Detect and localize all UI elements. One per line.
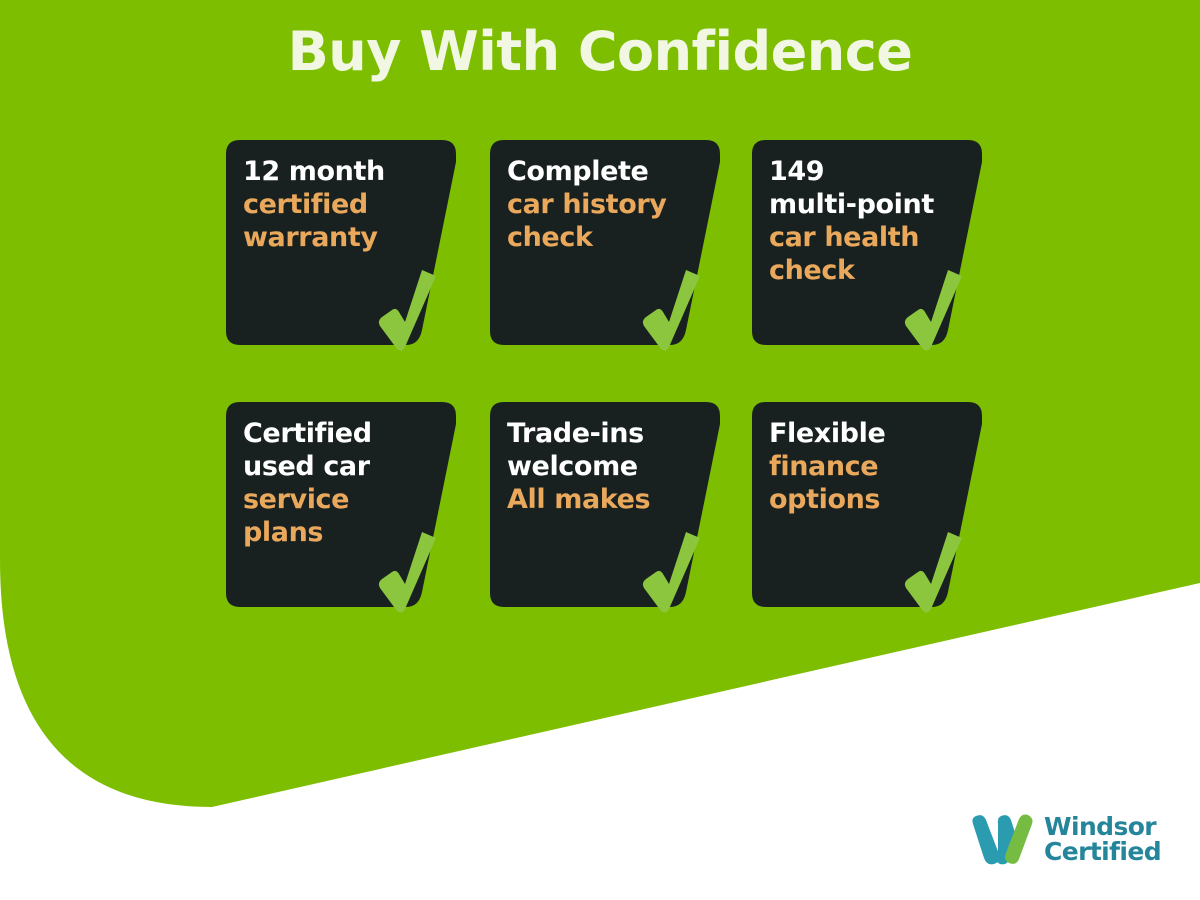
card-line: 12 month [243, 156, 439, 189]
benefit-card-trade-ins-welcome-all-makes[interactable]: Trade-ins welcome All makes [490, 402, 720, 607]
card-line: service [243, 484, 439, 517]
card-line: warranty [243, 222, 439, 255]
card-line: All makes [507, 484, 703, 517]
card-line: certified [243, 189, 439, 222]
card-line: car history [507, 189, 703, 222]
poster-canvas: Buy With Confidence 12 month certified w… [0, 0, 1200, 900]
card-line: Flexible [769, 418, 965, 451]
card-line: check [769, 255, 965, 288]
brand-logo[interactable]: Windsor Certified [972, 812, 1161, 866]
card-line: 149 [769, 156, 965, 189]
card-text-block: 149 multi-point car health check [769, 156, 965, 288]
card-line: options [769, 484, 965, 517]
benefits-grid: 12 month certified warranty [226, 140, 970, 612]
card-text-block: Certified used car service plans [243, 418, 439, 550]
benefit-card-flexible-finance-options[interactable]: Flexible finance options [752, 402, 982, 607]
card-line: Certified [243, 418, 439, 451]
card-line: Complete [507, 156, 703, 189]
card-line: plans [243, 517, 439, 550]
card-line: finance [769, 451, 965, 484]
card-line: used car [243, 451, 439, 484]
card-text-block: 12 month certified warranty [243, 156, 439, 255]
card-line: welcome [507, 451, 703, 484]
brand-logo-line-1: Windsor [1044, 814, 1161, 840]
card-text-block: Complete car history check [507, 156, 703, 255]
benefits-row-2: Certified used car service plans [226, 402, 970, 612]
page-title: Buy With Confidence [0, 22, 1200, 81]
card-text-block: Flexible finance options [769, 418, 965, 517]
brand-logo-line-2: Certified [1044, 839, 1161, 865]
benefit-card-149-multi-point-car-health-check[interactable]: 149 multi-point car health check [752, 140, 982, 345]
windsor-w-mark-icon [972, 812, 1034, 866]
card-line: car health [769, 222, 965, 255]
card-line: multi-point [769, 189, 965, 222]
card-line: check [507, 222, 703, 255]
benefit-card-certified-used-car-service-plans[interactable]: Certified used car service plans [226, 402, 456, 607]
benefits-row-1: 12 month certified warranty [226, 140, 970, 350]
brand-logo-text: Windsor Certified [1044, 814, 1161, 865]
card-text-block: Trade-ins welcome All makes [507, 418, 703, 517]
card-line: Trade-ins [507, 418, 703, 451]
benefit-card-complete-car-history-check[interactable]: Complete car history check [490, 140, 720, 345]
benefit-card-12-month-certified-warranty[interactable]: 12 month certified warranty [226, 140, 456, 345]
